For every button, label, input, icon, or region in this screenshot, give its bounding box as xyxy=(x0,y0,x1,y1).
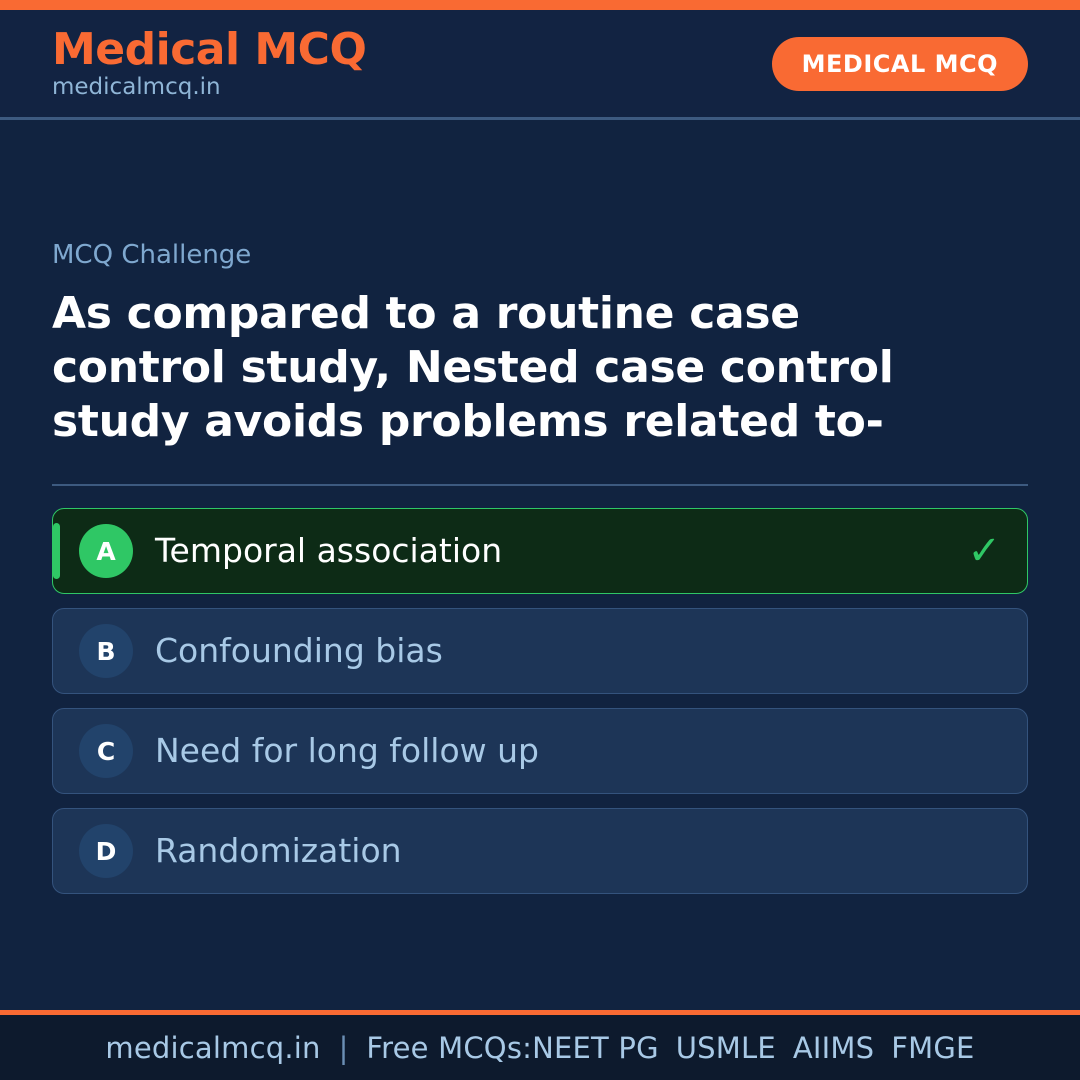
mcq-card-page: Medical MCQ medicalmcq.in MEDICAL MCQ MC… xyxy=(0,0,1080,1080)
option-b[interactable]: BConfounding bias xyxy=(52,608,1028,694)
options-list: ATemporal association✓BConfounding biasC… xyxy=(52,508,1028,894)
page-header: Medical MCQ medicalmcq.in MEDICAL MCQ xyxy=(0,10,1080,120)
page-footer: medicalmcq.in | Free MCQs: NEET PGUSMLEA… xyxy=(0,1010,1080,1080)
footer-free-label: Free MCQs: xyxy=(366,1031,532,1065)
header-badge: MEDICAL MCQ xyxy=(772,37,1028,91)
footer-exam-tags: NEET PGUSMLEAIIMSFMGE xyxy=(532,1031,974,1065)
kicker-label: MCQ Challenge xyxy=(52,240,1028,271)
option-d[interactable]: DRandomization xyxy=(52,808,1028,894)
section-divider xyxy=(52,484,1028,486)
brand-title: Medical MCQ xyxy=(52,27,366,73)
option-letter-badge: A xyxy=(79,524,133,578)
question-text: As compared to a routine case control st… xyxy=(52,287,952,448)
option-a[interactable]: ATemporal association✓ xyxy=(52,508,1028,594)
brand-block: Medical MCQ medicalmcq.in xyxy=(52,27,366,100)
main-content: MCQ Challenge As compared to a routine c… xyxy=(0,120,1080,1010)
footer-exam-tag: AIIMS xyxy=(793,1031,874,1065)
top-accent-bar xyxy=(0,0,1080,10)
footer-separator: | xyxy=(321,1031,367,1065)
footer-exam-tag: NEET PG xyxy=(532,1031,659,1065)
footer-exam-tag: USMLE xyxy=(676,1031,776,1065)
brand-subtitle: medicalmcq.in xyxy=(52,75,366,100)
option-letter-badge: D xyxy=(79,824,133,878)
option-label: Need for long follow up xyxy=(155,731,985,771)
correct-check-icon: ✓ xyxy=(967,531,1001,571)
footer-exam-tag: FMGE xyxy=(891,1031,974,1065)
question-block: MCQ Challenge As compared to a routine c… xyxy=(52,240,1028,448)
option-label: Temporal association xyxy=(155,531,951,571)
option-label: Confounding bias xyxy=(155,631,985,671)
option-label: Randomization xyxy=(155,831,985,871)
option-letter-badge: B xyxy=(79,624,133,678)
option-c[interactable]: CNeed for long follow up xyxy=(52,708,1028,794)
option-letter-badge: C xyxy=(79,724,133,778)
footer-site: medicalmcq.in xyxy=(105,1031,320,1065)
